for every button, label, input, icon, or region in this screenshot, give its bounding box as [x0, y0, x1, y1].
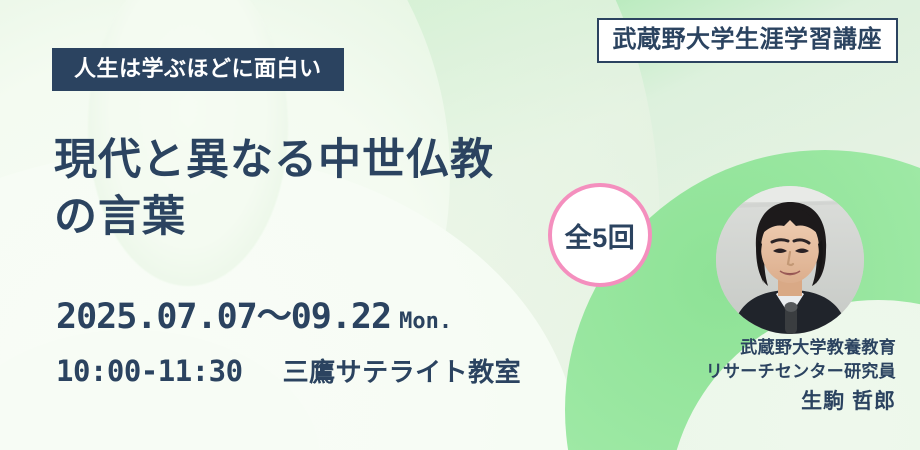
instructor-affiliation-line-1: 武蔵野大学教養教育: [740, 338, 896, 357]
course-location: 三鷹サテライト教室: [283, 359, 522, 385]
schedule-time-row: 10:00-11:30 三鷹サテライト教室: [56, 357, 521, 386]
instructor-info: 武蔵野大学教養教育 リサーチセンター研究員 生駒 哲郎: [706, 336, 896, 417]
university-program-badge: 武蔵野大学生涯学習講座: [597, 18, 899, 63]
instructor-portrait-photo: [716, 186, 864, 334]
schedule-date-row: 2025.07.07〜09.22Mon.: [56, 300, 521, 335]
day-of-week: Mon.: [399, 309, 452, 334]
course-title: 現代と異なる中世仏教 の言葉: [54, 132, 494, 246]
course-title-line-1: 現代と異なる中世仏教: [54, 132, 494, 189]
course-title-line-2: の言葉: [54, 189, 494, 246]
session-count-badge: 全5回: [548, 183, 652, 287]
schedule-block: 2025.07.07〜09.22Mon. 10:00-11:30 三鷹サテライト…: [56, 300, 521, 386]
instructor-name: 生駒 哲郎: [706, 387, 896, 417]
date-range: 2025.07.07〜09.22: [56, 297, 391, 337]
tagline-badge: 人生は学ぶほどに面白い: [52, 48, 344, 91]
course-time: 10:00-11:30: [56, 357, 243, 386]
course-promo-banner: 人生は学ぶほどに面白い 武蔵野大学生涯学習講座 現代と異なる中世仏教 の言葉 2…: [0, 0, 920, 450]
banner-content: 人生は学ぶほどに面白い 武蔵野大学生涯学習講座 現代と異なる中世仏教 の言葉 2…: [0, 0, 920, 450]
instructor-affiliation-line-2: リサーチセンター研究員: [706, 362, 896, 381]
